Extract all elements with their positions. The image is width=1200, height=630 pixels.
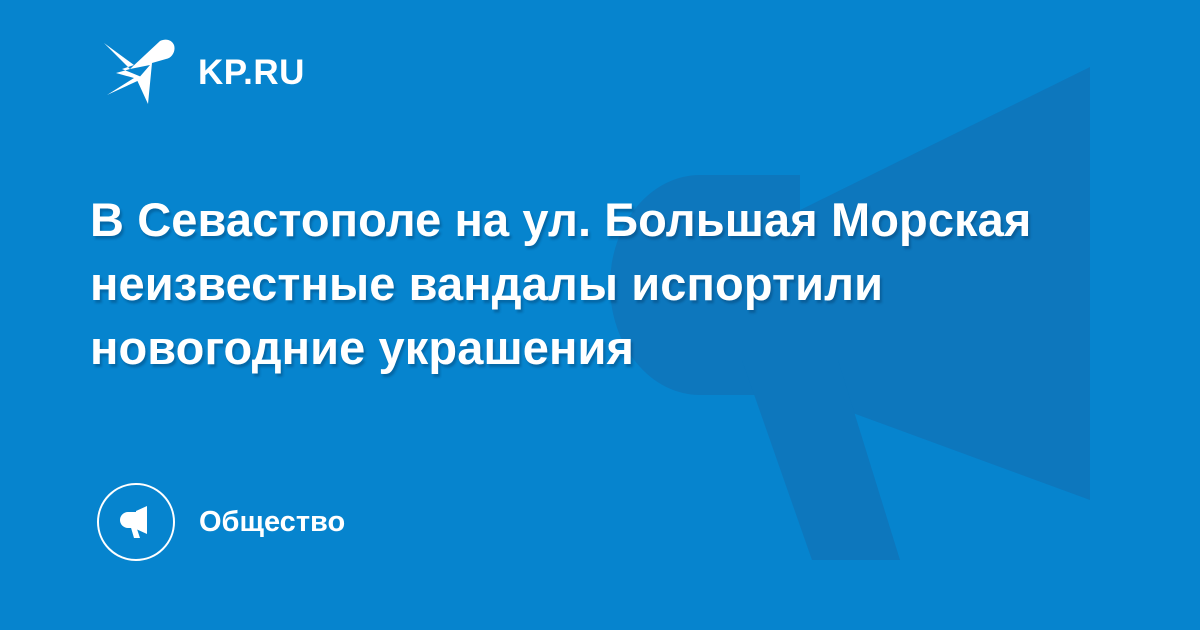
rubric-badge bbox=[97, 483, 175, 561]
site-logo[interactable]: KP.RU bbox=[104, 36, 305, 108]
megaphone-icon bbox=[115, 501, 157, 543]
swallow-bird-icon bbox=[104, 38, 176, 106]
rubric[interactable]: Общество bbox=[97, 483, 345, 561]
rubric-label: Общество bbox=[199, 508, 345, 537]
og-share-card: KP.RU В Севастополе на ул. Большая Морск… bbox=[0, 0, 1200, 630]
brand-name: KP.RU bbox=[198, 55, 305, 90]
page-title: В Севастополе на ул. Большая Морская неи… bbox=[90, 188, 1100, 380]
